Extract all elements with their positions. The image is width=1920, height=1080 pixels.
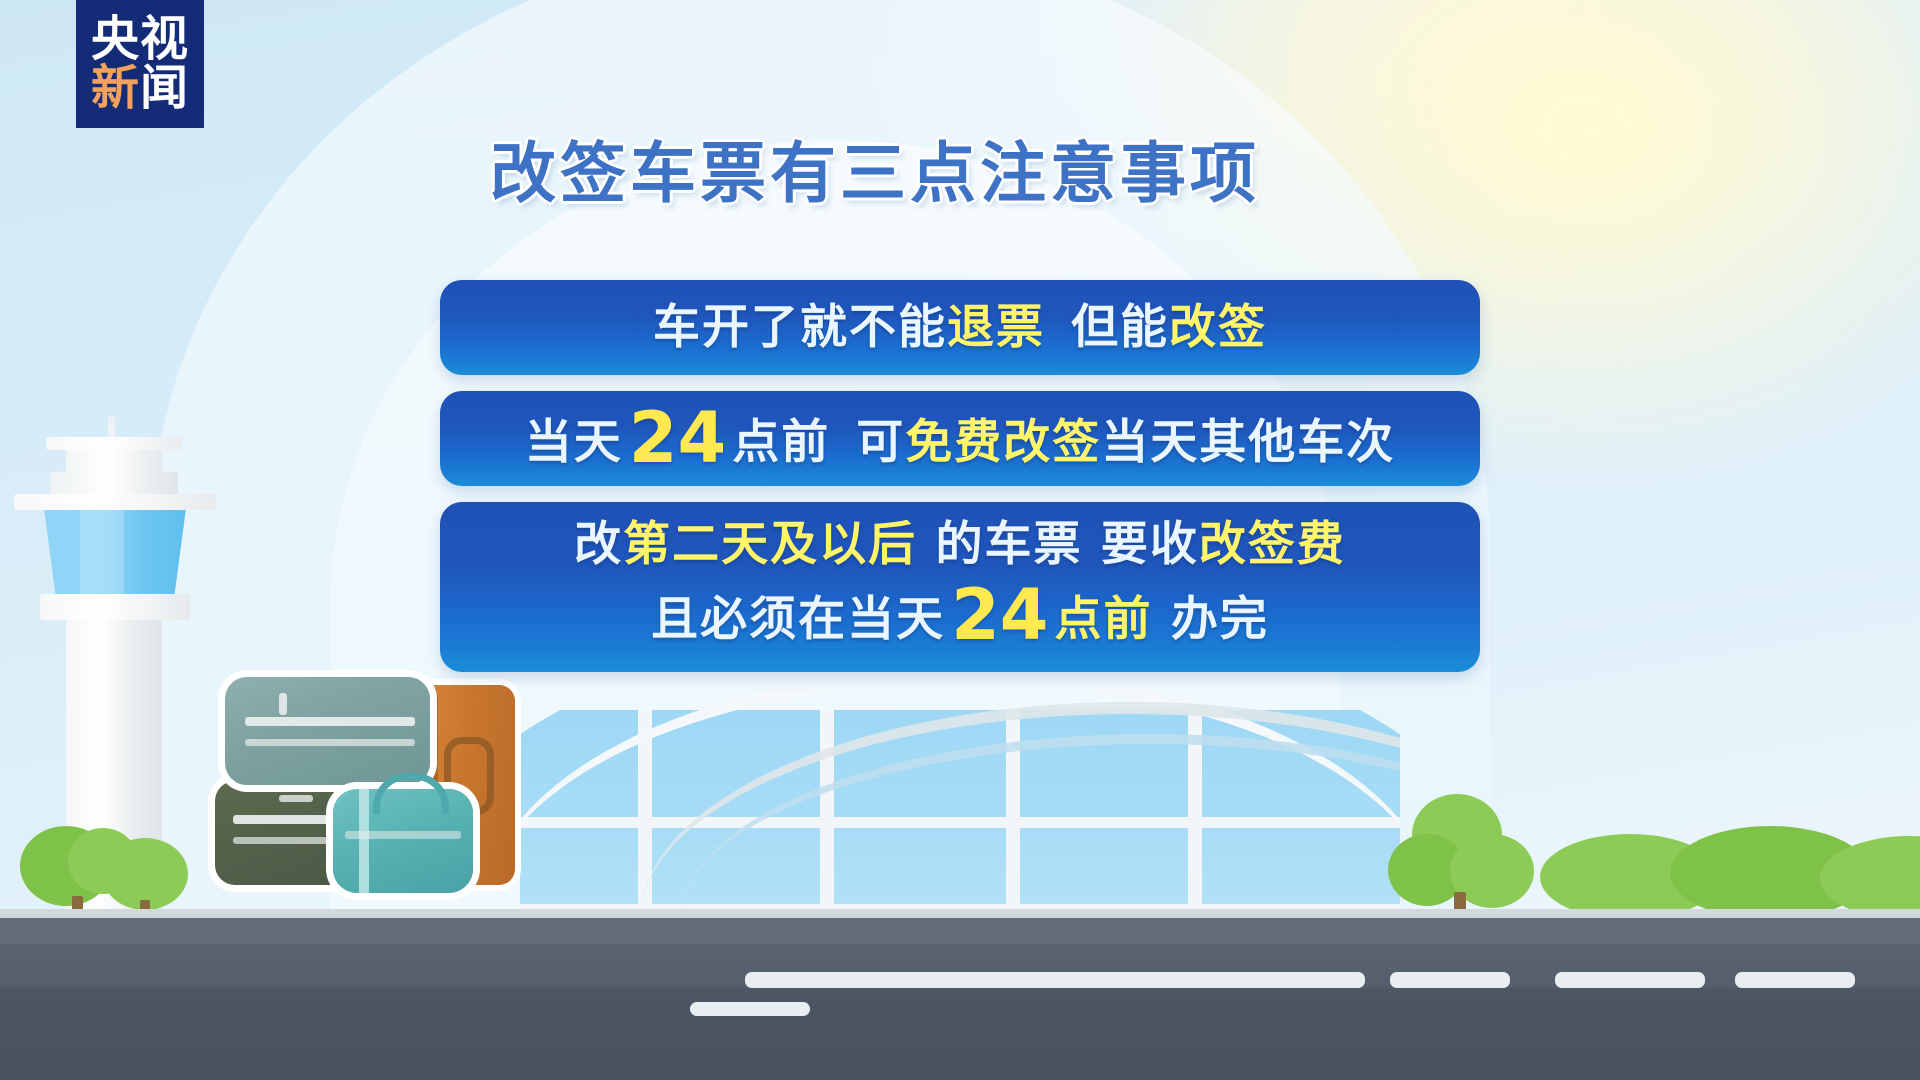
road	[0, 920, 1920, 1080]
duffel-bag-teal	[333, 789, 473, 893]
tip-text: 当天其他车次	[1101, 415, 1395, 470]
tip-line: 车开了就不能退票 但能改签	[653, 299, 1267, 356]
tip-highlight: 点前	[1055, 592, 1153, 647]
road-dash-4	[1735, 972, 1855, 988]
logo-char-xin: 新	[91, 60, 140, 116]
tree-right-2	[1540, 824, 1920, 920]
tip-box-2[interactable]: 当天24点前 可免费改签当天其他车次	[440, 391, 1480, 486]
tip-text: 且必须在当天	[651, 592, 945, 647]
tip-text: 改	[574, 517, 623, 572]
tip-number: 24	[945, 574, 1054, 656]
tips-list: 车开了就不能退票 但能改签 当天24点前 可免费改签当天其他车次 改第二天及以后…	[0, 280, 1920, 688]
tip-text: 车开了就不能	[653, 300, 947, 355]
tree-right-1	[1388, 780, 1538, 920]
tip-text: 的车票 要收	[917, 517, 1199, 572]
tip-box-3[interactable]: 改第二天及以后 的车票 要收改签费且必须在当天24点前 办完	[440, 502, 1480, 672]
road-dash-1	[690, 1002, 810, 1016]
road-dash-3	[1390, 972, 1510, 988]
tip-highlight: 退票	[947, 300, 1045, 355]
logo-line-1: 央视	[91, 15, 189, 64]
road-dash-2	[745, 972, 1365, 988]
tip-text: 但能	[1071, 300, 1169, 355]
road-dash-5	[1555, 972, 1705, 988]
tip-highlight: 免费改签	[905, 415, 1101, 470]
tip-box-1[interactable]: 车开了就不能退票 但能改签	[440, 280, 1480, 375]
logo-line-2: 新闻	[91, 64, 189, 113]
logo-char-wen: 闻	[140, 60, 189, 116]
tip-line: 当天24点前 可免费改签当天其他车次	[525, 396, 1395, 481]
tip-highlight: 第二天及以后	[623, 517, 917, 572]
tip-highlight: 改签	[1169, 300, 1267, 355]
tip-text: 当天	[525, 415, 623, 470]
tip-line: 改第二天及以后 的车票 要收改签费	[574, 516, 1346, 573]
suitcase-teal	[225, 677, 430, 785]
tip-text: 可	[856, 415, 905, 470]
infographic-canvas: 央视 新闻 改签车票有三点注意事项 车开了就不能退票 但能改签 当天24点前 可…	[0, 0, 1920, 1080]
airport-terminal	[520, 690, 1400, 920]
road-upper-band	[0, 918, 1920, 944]
tip-line: 且必须在当天24点前 办完	[651, 573, 1269, 658]
cctv-news-logo[interactable]: 央视 新闻	[76, 0, 204, 128]
tip-text: 点前	[732, 415, 830, 470]
tree-left-2	[96, 830, 206, 920]
tip-text: 办完	[1153, 592, 1269, 647]
tip-number: 24	[623, 397, 732, 479]
tip-highlight: 改签费	[1199, 517, 1346, 572]
